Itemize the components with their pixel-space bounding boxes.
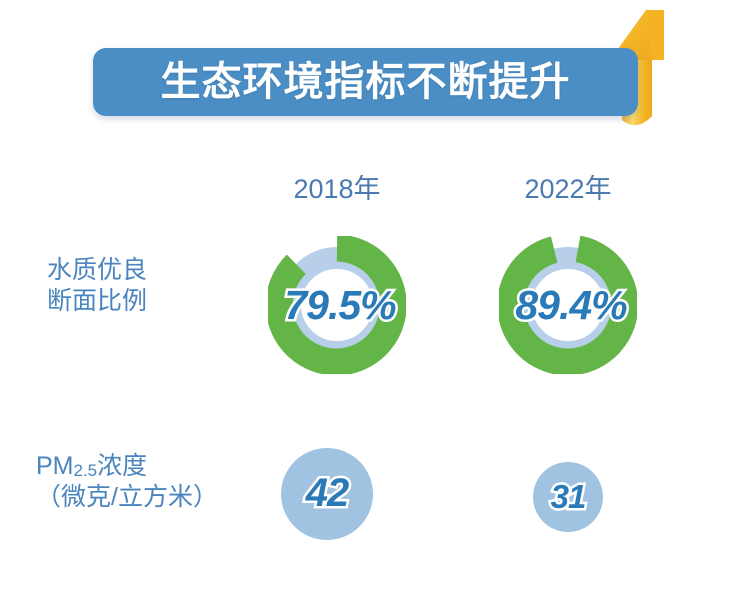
row-label-water-quality-line2: 断面比例 xyxy=(47,286,147,317)
bubble-pm25-2022: 31 xyxy=(533,462,603,532)
stats-grid: 2018年 2022年 水质优良 断面比例 PM2.5浓度 （微克/立方米） 7… xyxy=(0,150,750,608)
pm-suffix: 浓度 xyxy=(97,452,147,480)
bubble-value-2022: 31 xyxy=(551,480,586,513)
title-area: 生态环境指标不断提升 xyxy=(0,0,750,150)
pm-prefix: PM xyxy=(36,452,74,480)
bubble-pm25-2018: 42 xyxy=(281,448,373,540)
page-title: 生态环境指标不断提升 xyxy=(161,62,571,102)
title-banner: 生态环境指标不断提升 xyxy=(93,48,638,116)
row-label-pm25: PM2.5浓度 （微克/立方米） xyxy=(36,451,218,514)
row-label-water-quality: 水质优良 断面比例 xyxy=(47,255,147,318)
donut-value-2022: 89.4% xyxy=(502,236,640,374)
row-label-water-quality-line1: 水质优良 xyxy=(47,255,147,286)
donut-chart-water-2022: 89.4% xyxy=(499,236,637,374)
row-label-pm25-line2: （微克/立方米） xyxy=(36,482,218,513)
bubble-value-2018: 42 xyxy=(306,473,349,513)
row-label-pm25-line1: PM2.5浓度 xyxy=(36,451,218,482)
column-header-2022: 2022年 xyxy=(478,176,658,203)
pm-subscript: 2.5 xyxy=(74,461,98,480)
donut-value-2018: 79.5% xyxy=(271,236,409,374)
column-header-2018: 2018年 xyxy=(247,176,427,203)
donut-chart-water-2018: 79.5% xyxy=(268,236,406,374)
